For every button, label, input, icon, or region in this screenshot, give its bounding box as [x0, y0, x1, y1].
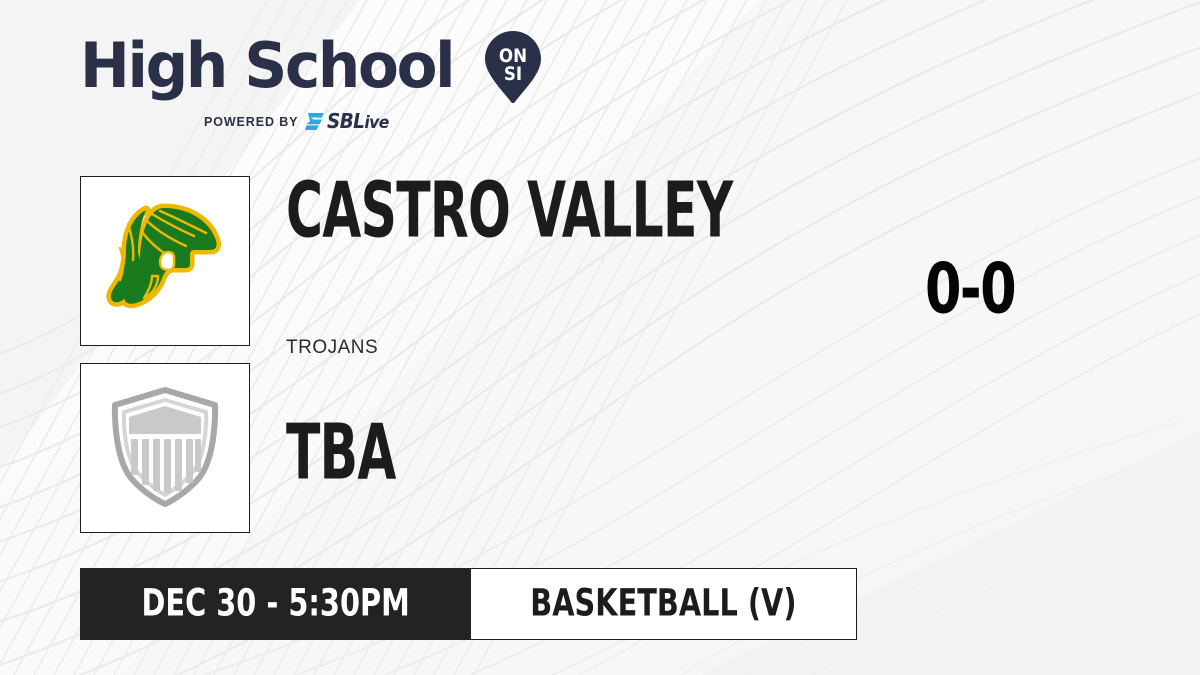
home-team-logo-box[interactable]: [80, 176, 250, 346]
sblive-wordmark: SBLive: [327, 111, 389, 132]
scorecard-stage: High School ON SI POWERED BY SBLive: [0, 0, 1200, 675]
pin-label-si: SI: [504, 63, 522, 85]
brand-title-row: High School ON SI: [80, 28, 543, 104]
home-team-mascot: TROJANS: [286, 337, 378, 359]
placeholder-shield-logo: [107, 386, 223, 510]
map-pin-icon: ON SI: [483, 30, 543, 104]
game-info-bar: DEC 30 - 5:30PM BASKETBALL (V): [80, 568, 857, 640]
away-team-name: TBA: [286, 414, 396, 490]
sblive-s-mark-icon: [305, 112, 325, 131]
brand-header: High School ON SI POWERED BY SBLive: [80, 28, 543, 132]
powered-by-label: POWERED BY: [204, 115, 298, 129]
game-datetime-label: DEC 30 - 5:30PM: [142, 585, 410, 623]
page-title: High School: [80, 37, 453, 96]
home-team-name: CASTRO VALLEY: [286, 172, 733, 248]
sblive-logo: SBLive: [305, 111, 394, 132]
score-display: 0-0: [896, 255, 1044, 324]
game-sport-label: BASKETBALL (V): [531, 585, 797, 623]
powered-by-row: POWERED BY SBLive: [204, 111, 543, 132]
away-team-logo-box[interactable]: [80, 363, 250, 533]
trojan-helmet-logo: [100, 196, 230, 326]
game-sport-badge: BASKETBALL (V): [471, 568, 857, 640]
game-datetime-badge: DEC 30 - 5:30PM: [80, 568, 471, 640]
